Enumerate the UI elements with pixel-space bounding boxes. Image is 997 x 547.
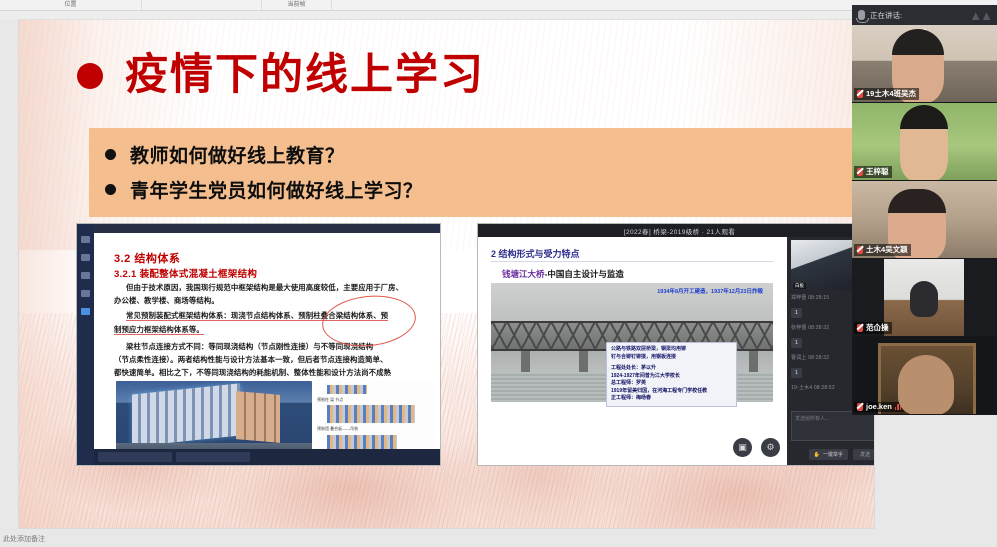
sidebar-icon-grid[interactable] [81,290,90,297]
chat-author: 郑梓晋 [791,295,807,301]
meeting-slide-heading-1: 2 结构形式与受力特点 [491,247,580,260]
precast-thumbnails: 预制柱 梁 节点 预制墙 叠合板——吊装 [317,381,436,457]
speaking-indicator-icon [895,403,902,410]
chevron-up-icon[interactable]: ⌃ [921,27,929,38]
participant-name: 土木4吴文颖 [866,244,908,255]
meeting-stage-buttons: ▣ ⚙ [733,438,780,457]
courseware-slide-body: 3.2 结构体系 3.2.1 装配整体式混凝土框架结构 但由于技术原因，我国现行… [94,233,440,465]
courseware-heading-2: 3.2.1 装配整体式混凝土框架结构 [114,266,257,280]
participant-tile[interactable]: 范仚操 [852,259,997,337]
courseware-paragraph: 但由于技术原因，我国现行规范中框架结构是最大使用高度较低，主要应用于厂房、 [126,284,403,292]
participant-tile[interactable]: ⌄ joe.ken [852,337,997,415]
meeting-slide-heading-2: 钱塘江大桥-中国自主设计与监造 [502,268,624,280]
participant-name: 19土木4班吴杰 [866,88,916,99]
mic-muted-icon [857,403,863,411]
participant-name-badge: 土木4吴文颖 [854,244,911,256]
rail-header: 正在讲话: ▲▲ [852,5,997,25]
thumb-strip [327,405,415,423]
chat-time: 08:28:32 [808,325,829,331]
note-line: 总工程师：罗英 [611,380,732,388]
note-line: 正工程师：梅旸春 [611,395,732,403]
courseware-titlebar [94,224,440,233]
participant-name-badge: 范仚操 [854,322,892,334]
meeting-titlebar: [2022春] 桥梁-2019级桥 · 21人观看 [478,224,874,237]
note-line: 钉与合铆钉铆接，用钢板连接 [611,354,732,362]
screenshot-meeting-panel: [2022春] 桥梁-2019级桥 · 21人观看 2 结构形式与受力特点 钱塘… [477,223,874,466]
courseware-bottom-bar[interactable] [94,449,440,465]
bullet-dot-icon [105,184,116,195]
note-line: 1919年留美归国，在河海工程专门学校任教 [611,388,732,396]
chat-bubble: 1 [791,338,802,348]
topbar-cell-current-frame[interactable]: 当前帧 [262,0,332,11]
participant-rail: 正在讲话: ▲▲ ⌃ 19土木4班吴杰 王梓聪 土木4吴文颖 范仚操 ⌄ joe… [852,5,997,415]
slide-title-row: 疫情下的线上学习 [77,54,485,97]
question-text: 青年学生党员如何做好线上学习？ [130,176,423,203]
chat-author: 张梓晋 [791,325,807,331]
page-title: 疫情下的线上学习 [125,54,485,97]
participant-name-badge: joe.ken [854,402,904,412]
bridge-name: 钱塘江大桥 [502,269,545,279]
share-screen-icon[interactable]: ▣ [733,438,752,457]
topbar-cell-spacer [142,0,262,11]
courseware-heading-1: 3.2 结构体系 [114,250,180,266]
thumb-strip [327,385,367,394]
participant-name: joe.ken [866,402,892,411]
participant-name-badge: 19土木4班吴杰 [854,88,919,100]
courseware-paragraph: （节点柔性连接）。两者结构性能与设计方法基本一致，但后者节点连接构造简单、 [114,356,387,364]
building-render-image [116,381,312,457]
chat-time: 08:28:15 [808,295,829,301]
participant-name: 王梓聪 [866,166,889,177]
participant-name: 范仚操 [866,322,889,333]
bridge-date-annotation: 1934年8月开工建造，1937年12月23日炸毁 [657,288,763,296]
heading-rule [491,261,773,262]
application-top-bar: 位置 当前帧 [0,0,997,11]
chat-bubble: 1 [791,368,802,378]
bottom-chip[interactable] [176,452,250,462]
hand-icon: ✋ [814,452,820,458]
meeting-shared-slide: 2 结构形式与受力特点 钱塘江大桥-中国自主设计与监造 1934年8月开工建造，… [478,237,787,465]
screenshot-courseware-panel: 3.2 结构体系 3.2.1 装配整体式混凝土框架结构 但由于技术原因，我国现行… [76,223,441,466]
thumb-caption: 预制墙 叠合板——吊装 [317,426,358,432]
chat-time: 08:28:52 [814,385,835,391]
application-sub-bar [0,11,997,20]
note-line: 1924-1927年间曾为江大学校长 [611,373,732,381]
chat-bubble: 1 [791,308,802,318]
thumb-caption: 预制柱 梁 节点 [317,397,343,403]
courseware-sidebar[interactable] [77,224,94,465]
chevron-down-icon[interactable]: ⌄ [921,401,929,412]
mic-muted-icon [857,168,863,176]
chat-time: 08:28:32 [808,355,829,361]
courseware-paragraph: 办公楼、教学楼、商场等结构。 [114,297,219,305]
mic-muted-icon [857,90,863,98]
participant-tile[interactable]: ⌃ 19土木4班吴杰 [852,25,997,103]
app-logo-icon: ▲▲ [969,8,991,23]
chat-author: 19-土木4 [791,385,812,391]
sidebar-icon-people[interactable] [81,272,90,279]
topbar-cell-position[interactable]: 位置 [0,0,142,11]
microphone-icon [858,10,865,20]
note-line: 工程处处长：茅以升 [611,365,732,373]
raise-hand-button[interactable]: ✋ 一键举手 [809,449,848,460]
chat-author: 曹润上 [791,355,807,361]
notes-placeholder: 此处添加备注 [3,534,45,544]
settings-icon[interactable]: ⚙ [761,438,780,457]
self-video-label: 白板 [793,283,806,289]
question-item: 青年学生党员如何做好线上学习？ [105,176,874,203]
bridge-subtitle: -中国自主设计与监造 [545,269,624,279]
rail-header-label: 正在讲话: [870,10,902,21]
courseware-paragraph: 都快速简单。相比之下，不等同现浇结构的耗能机制、整体性能和设计方法尚不成熟 [114,369,391,377]
chat-action-row: ✋ 一键举手 发送 [809,449,874,460]
sidebar-icon-files[interactable] [81,254,90,261]
note-line: 公路与铁路双层桥梁，钢梁均用铆 [611,346,732,354]
title-bullet-icon [77,63,103,89]
bullet-dot-icon [105,149,116,160]
participant-tile[interactable]: 土木4吴文颖 [852,181,997,259]
bridge-info-note: 公路与铁路双层桥梁，钢梁均用铆 钉与合铆钉铆接，用钢板连接 工程处处长：茅以升 … [606,342,737,407]
mic-muted-icon [857,246,863,254]
notes-bar[interactable]: 此处添加备注 [0,530,997,547]
sidebar-icon-active[interactable] [81,308,90,315]
sidebar-icon-home[interactable] [81,236,90,243]
raise-hand-label: 一键举手 [823,451,843,458]
question-box: 教师如何做好线上教育？ 青年学生党员如何做好线上学习？ [89,128,874,217]
chat-input[interactable]: 发送给所有人... [791,411,874,441]
participant-name-badge: 王梓聪 [854,166,892,178]
bottom-chip[interactable] [98,452,172,462]
participant-tile[interactable]: 王梓聪 [852,103,997,181]
slide-canvas: 疫情下的线上学习 教师如何做好线上教育？ 青年学生党员如何做好线上学习？ 3.2… [19,20,874,528]
courseware-paragraph: 制预应力框架结构体系等。 [114,326,204,335]
send-button[interactable]: 发送 [853,449,874,460]
courseware-image-row: 预制柱 梁 节点 预制墙 叠合板——吊装 [116,381,436,457]
question-text: 教师如何做好线上教育？ [130,141,345,168]
mic-muted-icon [857,324,863,332]
courseware-paragraph: 梁柱节点连接方式不同：等同现浇结构（节点刚性连接）与不等同现浇结构 [126,343,373,351]
question-item: 教师如何做好线上教育？ [105,141,874,168]
